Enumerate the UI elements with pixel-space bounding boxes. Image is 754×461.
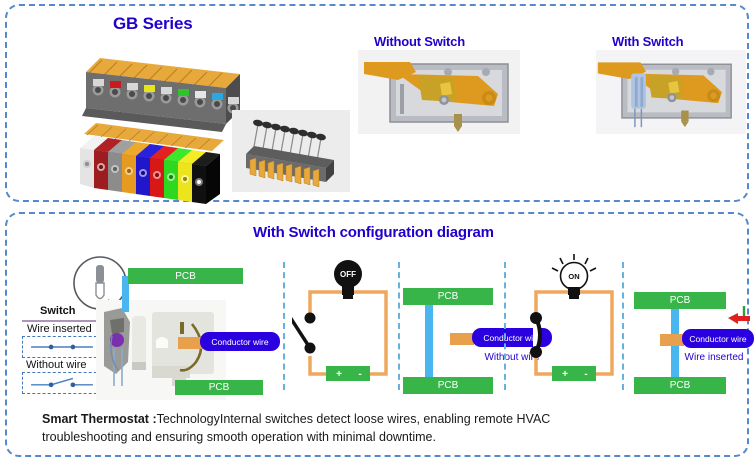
pcb-bottom-right: PCB (634, 377, 726, 394)
pcb-top-right: PCB (634, 292, 726, 309)
page-title-gb-series: GB Series (113, 14, 192, 34)
panel-divider-1 (283, 262, 285, 390)
circuit-diagram-on: ON + - (514, 252, 624, 396)
svg-text:+: + (336, 369, 342, 380)
screenshot-root: GB Series Without Switch With Switch (0, 0, 754, 461)
panel-divider-4 (622, 262, 624, 390)
switch-open-symbol (22, 372, 102, 394)
conductor-wire-right: Conductor wire (682, 329, 754, 348)
terminal-block-pin-header-image (232, 110, 350, 192)
conductor-stub-mid (450, 333, 474, 345)
terminal-block-colors-image (72, 118, 232, 208)
pcb-top-left: PCB (128, 268, 243, 284)
pcb-trace-mid (425, 296, 433, 384)
label-without-switch: Without Switch (374, 34, 465, 49)
description-text: Smart Thermostat :TechnologyInternal swi… (42, 410, 572, 446)
svg-text:ON: ON (568, 272, 579, 281)
svg-text:OFF: OFF (340, 270, 356, 279)
label-with-switch: With Switch (612, 34, 683, 49)
pcb-bottom-left: PCB (175, 380, 263, 395)
switch-state-label-wire-inserted: Wire inserted (27, 323, 92, 335)
description-lead: Smart Thermostat : (42, 412, 157, 426)
svg-text:+: + (562, 369, 568, 380)
note-wire-inserted: Wire inserted (674, 352, 754, 363)
svg-text:-: - (358, 369, 361, 380)
conductor-wire-left: Conductor wire (200, 332, 280, 351)
switch-state-label-without-wire: Without wire (26, 359, 87, 371)
with-switch-photo (596, 50, 746, 134)
without-switch-photo (358, 50, 520, 134)
panel-divider-2 (398, 262, 400, 390)
section-title-config-diagram: With Switch configuration diagram (253, 224, 494, 241)
circuit-diagram-off: OFF + - (292, 256, 400, 396)
switch-closed-symbol (22, 336, 102, 358)
insertion-arrow-icon (726, 304, 752, 330)
pcb-top-mid: PCB (403, 288, 493, 305)
switch-legend-title: Switch (40, 305, 75, 317)
svg-text:-: - (584, 369, 587, 380)
pcb-bottom-mid: PCB (403, 377, 493, 394)
conductor-stub-right (660, 334, 684, 346)
conductor-stub-left (178, 337, 202, 349)
panel-divider-3 (504, 262, 506, 390)
